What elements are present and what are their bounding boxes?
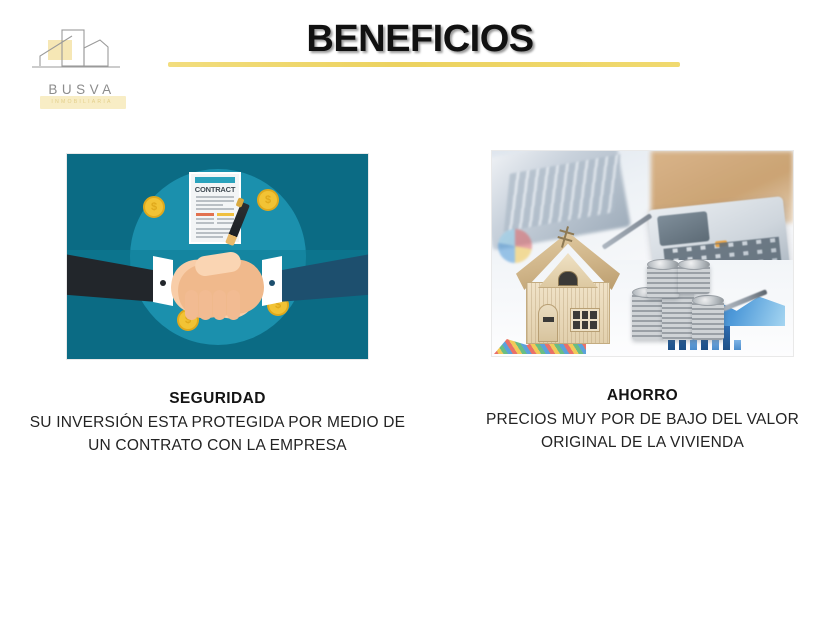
house-attic-window — [558, 271, 578, 286]
benefit-card-ahorro: AHORRO PRECIOS MUY POR DE BAJO DEL VALOR… — [450, 150, 835, 455]
finger — [213, 290, 226, 320]
dollar-coin-icon — [143, 196, 165, 218]
logo-subtitle: INMOBILIARIA — [22, 99, 142, 105]
cuff-button-left — [160, 280, 166, 286]
contract-text-line — [217, 218, 235, 220]
house-door-slot — [543, 317, 554, 322]
coin-stack — [692, 300, 724, 340]
contract-text-line — [196, 200, 234, 202]
house-window — [570, 308, 600, 332]
contract-checkbox — [217, 213, 235, 216]
window-pane — [582, 311, 589, 319]
coin-stack — [632, 292, 664, 340]
window-pane — [573, 311, 580, 319]
dollar-coin-icon — [257, 189, 279, 211]
benefit-caption-ahorro: AHORRO PRECIOS MUY POR DE BAJO DEL VALOR… — [450, 387, 835, 455]
bar-chart-bar — [734, 340, 741, 350]
coin-top — [647, 259, 679, 270]
contract-text-line — [196, 236, 223, 238]
contract-text-line — [196, 204, 223, 206]
coin-stack — [678, 264, 710, 294]
window-pane — [590, 311, 597, 319]
contract-checkbox-group — [196, 213, 214, 226]
contract-checkbox — [196, 213, 214, 216]
window-pane — [573, 321, 580, 329]
wooden-house-model — [516, 224, 620, 344]
benefit-title: AHORRO — [450, 387, 835, 405]
contract-text-line — [196, 228, 234, 230]
page-title: BENEFICIOS — [0, 18, 840, 61]
calculator-screen — [657, 211, 710, 246]
contract-text-line — [196, 218, 214, 220]
window-pane — [590, 321, 597, 329]
coin-top — [692, 295, 724, 306]
finger — [227, 290, 240, 320]
benefit-caption-seguridad: SEGURIDAD SU INVERSIÓN ESTA PROTEGIDA PO… — [25, 390, 410, 458]
benefit-card-seguridad: CONTRACT — [25, 150, 410, 458]
window-pane — [582, 321, 589, 329]
contract-checkbox-row — [196, 213, 234, 226]
title-underline-rule — [168, 62, 680, 67]
finger — [185, 290, 198, 320]
contract-label: CONTRACT — [191, 185, 239, 194]
contract-text-line — [196, 208, 234, 210]
contract-text-line — [196, 196, 234, 198]
benefit-title: SEGURIDAD — [25, 390, 410, 408]
bar-chart-bar — [723, 326, 730, 350]
finger — [199, 290, 212, 320]
handshake-contract-illustration: CONTRACT — [66, 153, 369, 360]
house-door — [538, 304, 558, 342]
benefit-description: SU INVERSIÓN ESTA PROTEGIDA POR MEDIO DE… — [25, 412, 410, 458]
contract-header-bar — [195, 177, 235, 183]
coin-stack — [647, 264, 679, 298]
contract-text-line — [196, 222, 214, 224]
benefit-description: PRECIOS MUY POR DE BAJO DEL VALOR ORIGIN… — [450, 409, 835, 455]
coin-top — [678, 259, 710, 270]
house-model-coins-calculator-photo — [491, 150, 794, 357]
logo-wordmark: BUSVA — [22, 82, 142, 97]
cuff-button-right — [269, 280, 275, 286]
